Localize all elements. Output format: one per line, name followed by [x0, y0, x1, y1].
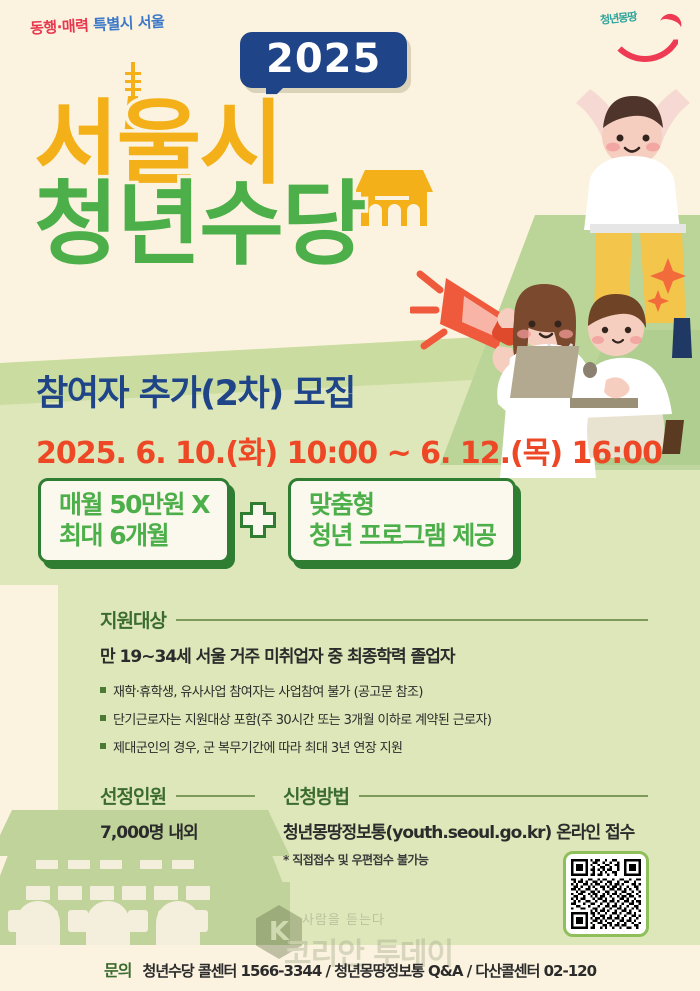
benefit-box-program-line1: 맞춤형: [309, 490, 495, 521]
bullet-dot-icon: [100, 743, 106, 749]
bullet-dot-icon: [100, 687, 106, 693]
section-quota: 선정인원 7,000명 내외: [100, 782, 255, 843]
year-badge-bubble: 2025: [240, 32, 407, 88]
section-apply-heading: 신청방법: [283, 782, 349, 809]
section-target-heading: 지원대상: [100, 606, 166, 633]
benefit-box-program-line2: 청년 프로그램 제공: [309, 521, 495, 552]
bullet-item: 제대군인의 경우, 군 복무기간에 따라 최대 3년 연장 지원: [100, 737, 648, 756]
seoul-brand-logo-blue: 특별시 서울: [93, 12, 165, 34]
section-target: 지원대상 만 19~34세 서울 거주 미취업자 중 최종학력 졸업자 재학·휴…: [100, 606, 648, 765]
section-quota-header: 선정인원: [100, 782, 255, 809]
plus-icon: [242, 504, 276, 538]
section-target-rule: [176, 619, 648, 621]
bullet-item: 단기근로자는 지원대상 포함(주 30시간 또는 3개월 이하로 계약된 근로자…: [100, 709, 648, 728]
footer-text: 청년수당 콜센터 1566-3344 / 청년몽땅정보통 Q&A / 다산콜센터…: [143, 962, 597, 980]
bullet-dot-icon: [100, 715, 106, 721]
year-badge-label: 2025: [266, 39, 381, 79]
benefit-box-allowance: 매월 50만원 X 최대 6개월: [38, 478, 230, 563]
benefit-box-allowance-line1: 매월 50만원 X: [59, 490, 209, 521]
section-target-body: 만 19~34세 서울 거주 미취업자 중 최종학력 졸업자: [100, 642, 648, 667]
bullet-text: 제대군인의 경우, 군 복무기간에 따라 최대 3년 연장 지원: [113, 737, 402, 756]
footer-contact: 문의 청년수당 콜센터 1566-3344 / 청년몽땅정보통 Q&A / 다산…: [0, 957, 700, 981]
poster-headline: 서울시 청년수당: [34, 100, 504, 269]
bullet-text: 재학·휴학생, 유사사업 참여자는 사업참여 불가 (공고문 참조): [113, 681, 423, 700]
section-apply-rule: [359, 795, 648, 797]
watermark-tagline: 사람을 듣는다: [302, 909, 385, 928]
section-target-bullets: 재학·휴학생, 유사사업 참여자는 사업참여 불가 (공고문 참조) 단기근로자…: [100, 681, 648, 756]
recruitment-dateline: 2025. 6. 10.(화) 10:00 ~ 6. 12.(목) 16:00: [36, 428, 662, 472]
section-apply-header: 신청방법: [283, 782, 648, 809]
benefit-box-program: 맞춤형 청년 프로그램 제공: [288, 478, 516, 563]
qr-code-image: [571, 859, 641, 929]
benefit-box-row: 매월 50만원 X 최대 6개월 맞춤형 청년 프로그램 제공: [38, 478, 516, 563]
poster-root: 동행·매력 특별시 서울 청년몽땅 2025: [0, 0, 700, 991]
section-quota-rule: [176, 795, 255, 797]
seoul-brand-logo: 동행·매력 특별시 서울: [30, 10, 165, 38]
section-quota-heading: 선정인원: [100, 782, 166, 809]
section-apply-body: 청년몽땅정보통(youth.seoul.go.kr) 온라인 접수: [283, 818, 648, 843]
benefit-box-allowance-line2: 최대 6개월: [59, 521, 209, 552]
section-quota-body: 7,000명 내외: [100, 818, 255, 843]
poster-subtitle: 참여자 추가(2차) 모집: [36, 365, 355, 416]
footer-label: 문의: [104, 961, 131, 980]
bullet-item: 재학·휴학생, 유사사업 참여자는 사업참여 불가 (공고문 참조): [100, 681, 648, 700]
section-target-header: 지원대상: [100, 606, 648, 633]
qr-code[interactable]: [563, 851, 649, 937]
seoul-brand-logo-red: 동행·매력: [30, 16, 89, 37]
headline-line-2: 청년수당: [34, 181, 504, 268]
bullet-text: 단기근로자는 지원대상 포함(주 30시간 또는 3개월 이하로 계약된 근로자…: [113, 709, 491, 728]
